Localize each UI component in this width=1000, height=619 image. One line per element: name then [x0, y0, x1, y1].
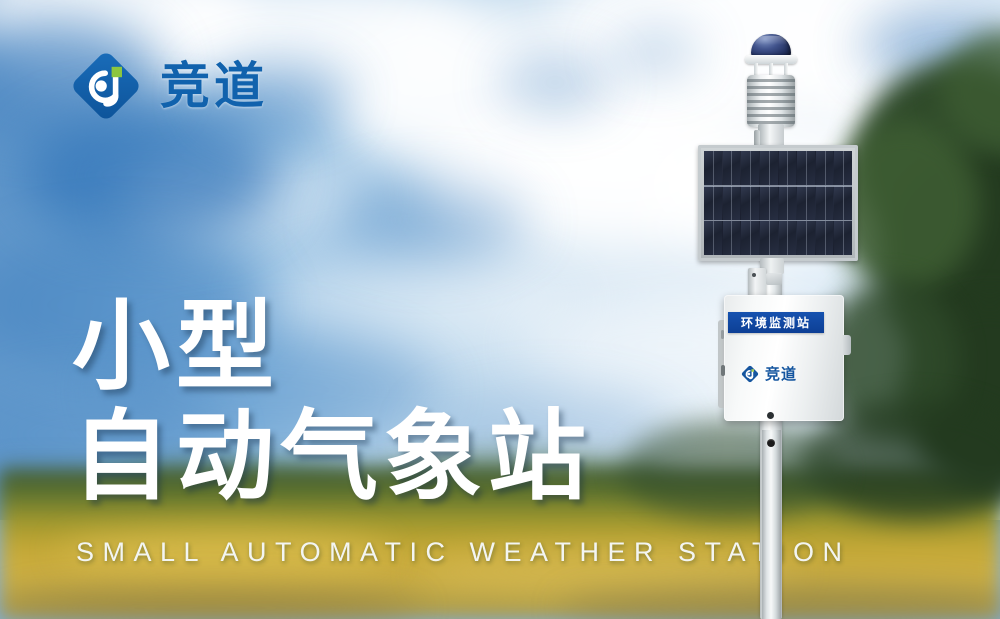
solar-cell	[760, 221, 778, 255]
solar-cell	[797, 151, 815, 185]
solar-cell	[834, 151, 852, 185]
shield-fin	[747, 86, 795, 89]
shield-fin	[747, 107, 795, 110]
solar-cell	[704, 221, 722, 255]
enclosure-cable-gland	[767, 412, 774, 419]
shield-fin	[747, 100, 795, 103]
enclosure-banner-label: 环境监测站	[741, 317, 811, 329]
sky-patch	[330, 180, 530, 260]
solar-cell	[816, 186, 834, 220]
shield-fin	[747, 114, 795, 117]
solar-cell	[834, 221, 852, 255]
solar-cell	[816, 151, 834, 185]
sensor-neck	[758, 124, 784, 146]
solar-busbar	[704, 220, 852, 222]
solar-panel-icon	[698, 145, 858, 261]
enclosure-vent	[721, 330, 724, 339]
solar-cell	[704, 151, 722, 185]
solar-busbar	[704, 185, 852, 187]
poster-banner: 竞道 小型 自动气象站 SMALL AUTOMATIC WEATHER STAT…	[0, 0, 1000, 619]
sky-patch	[610, 30, 700, 75]
solar-cell-grid	[704, 151, 852, 255]
solar-cell	[779, 221, 797, 255]
solar-cell	[723, 186, 741, 220]
shield-fin	[747, 79, 795, 82]
solar-cell	[741, 221, 759, 255]
solar-cell	[797, 186, 815, 220]
solar-cell	[704, 186, 722, 220]
sky-patch	[500, 55, 610, 110]
mast-pole-lower	[762, 430, 781, 619]
jingdao-diamond-logo-icon	[740, 364, 760, 384]
solar-cell	[741, 151, 759, 185]
ultrasonic-weather-sensor-icon	[734, 30, 808, 160]
enclosure-brand-name: 竞道	[765, 367, 797, 382]
sky-patch	[20, 110, 280, 240]
jingdao-diamond-logo-icon	[66, 46, 146, 126]
mast-bolt-hole	[767, 439, 775, 447]
solar-cell	[797, 221, 815, 255]
bracket-screw	[752, 273, 756, 277]
shield-fin	[747, 93, 795, 96]
hero-title-line-1: 小型	[72, 296, 692, 400]
enclosure-latch	[842, 335, 851, 355]
hero-title: 小型 自动气象站	[72, 296, 692, 510]
radiation-shield	[747, 75, 795, 127]
enclosure-banner: 环境监测站	[728, 312, 824, 333]
solar-cell	[741, 186, 759, 220]
hero-title-line-2: 自动气象站	[72, 406, 692, 510]
solar-cell	[816, 221, 834, 255]
solar-cell	[723, 221, 741, 255]
solar-cell	[723, 151, 741, 185]
solar-cell	[779, 186, 797, 220]
solar-cell	[834, 186, 852, 220]
enclosure-brand-logo: 竞道	[740, 364, 797, 384]
bracket-tab	[766, 273, 782, 285]
brand-logo[interactable]: 竞道	[66, 46, 268, 126]
enclosure-vent	[721, 365, 725, 376]
solar-cell	[779, 151, 797, 185]
brand-name: 竞道	[160, 61, 268, 111]
solar-cell	[760, 151, 778, 185]
solar-cell	[760, 186, 778, 220]
weather-station-product: 环境监测站 竞道	[690, 30, 890, 619]
